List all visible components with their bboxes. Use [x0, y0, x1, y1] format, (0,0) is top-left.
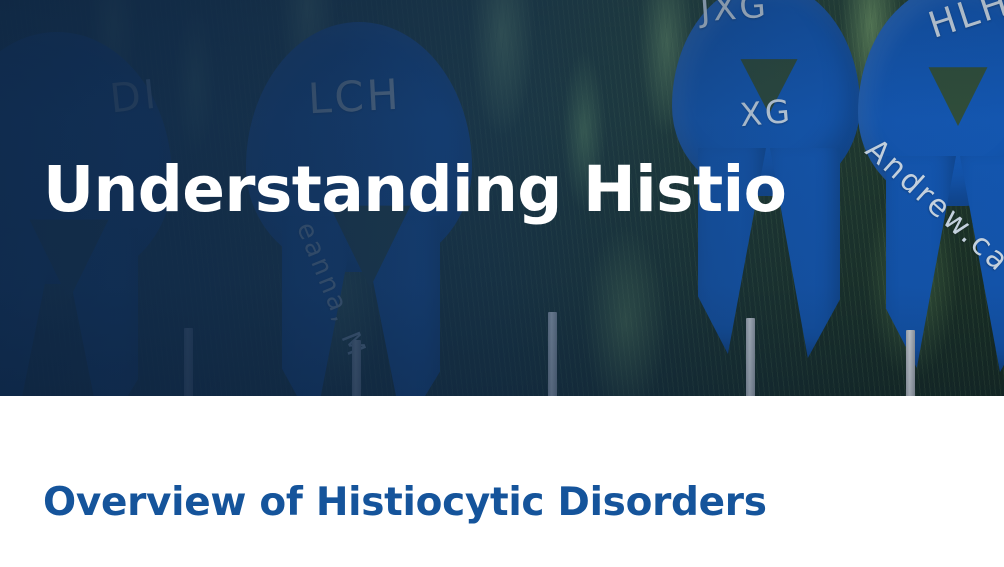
hero-banner: DI LCH eanna, M JXG XG [0, 0, 1004, 396]
main-content: Overview of Histiocytic Disorders [0, 396, 1004, 567]
page-title: Understanding Histio [43, 154, 786, 226]
page-root: DI LCH eanna, M JXG XG [0, 0, 1004, 567]
section-heading: Overview of Histiocytic Disorders [43, 480, 767, 526]
